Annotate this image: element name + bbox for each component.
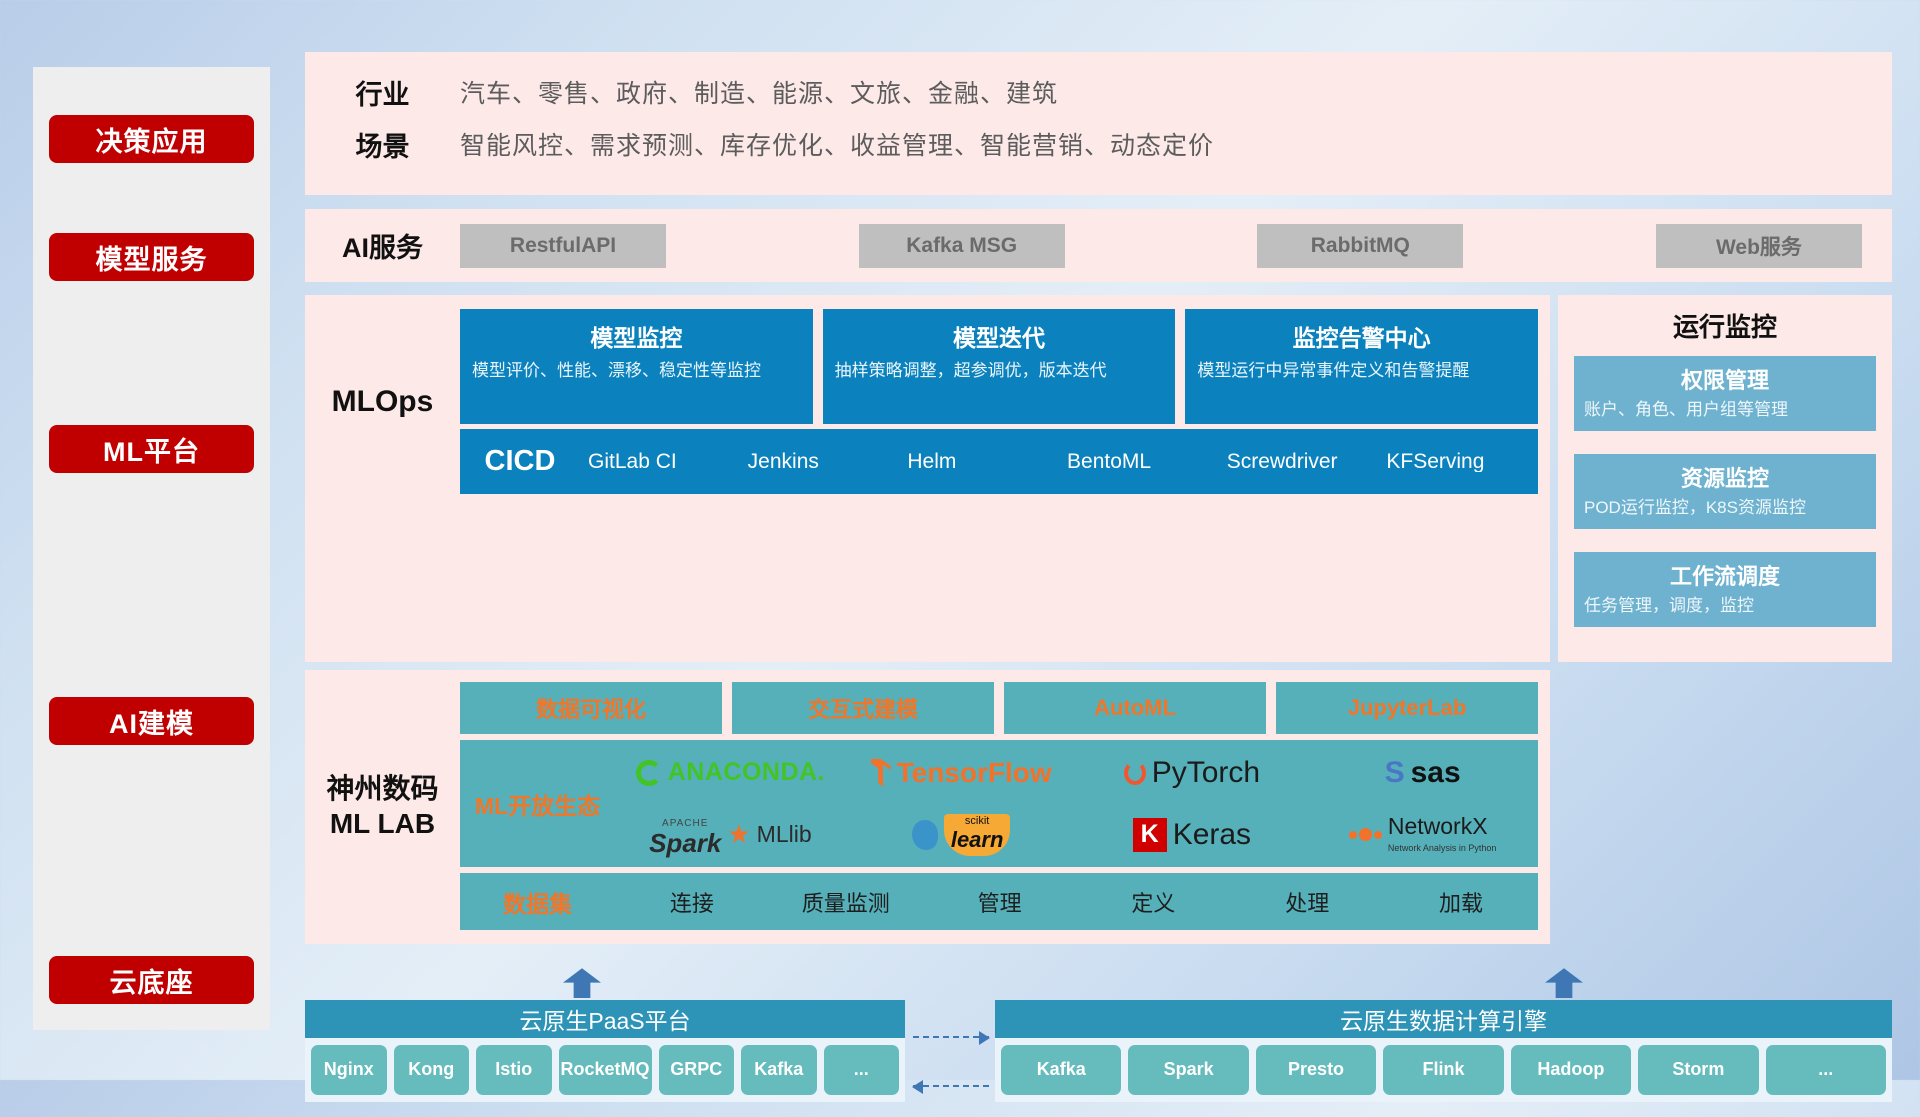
industry-value: 汽车、零售、政府、制造、能源、文旅、金融、建筑 — [460, 74, 1058, 110]
cicd-item-gitlab-ci[interactable]: GitLab CI — [580, 451, 740, 472]
card-title: 模型迭代 — [835, 319, 1164, 353]
dataset-items: 连接 质量监测 管理 定义 处理 加载 — [615, 886, 1538, 918]
tool-chip-automl[interactable]: AutoML — [1004, 682, 1266, 734]
pytorch-logo: PyTorch — [1077, 742, 1308, 804]
networkx-logo: NetworkX Network Analysis in Python — [1307, 804, 1538, 866]
mlops-panel: MLOps 模型监控 模型评价、性能、漂移、稳定性等监控 模型迭代 抽样策略调整… — [305, 295, 1550, 662]
stage-chip-ai-modeling[interactable]: AI建模 — [49, 697, 254, 745]
ai-service-buttons: RestfulAPI Kafka MSG RabbitMQ Web服务 — [460, 224, 1892, 268]
mlops-card-alert-center[interactable]: 监控告警中心 模型运行中异常事件定义和告警提醒 — [1185, 309, 1538, 424]
spark-star-icon: ★ — [727, 819, 750, 850]
mlops-card-model-iteration[interactable]: 模型迭代 抽样策略调整，超参调优，版本迭代 — [823, 309, 1176, 424]
dashed-arrow-right-icon — [913, 1036, 989, 1038]
eco-logo-grid: ANACONDA. TensorFlow PyTorch — [615, 742, 1538, 866]
card-desc: 模型评价、性能、漂移、稳定性等监控 — [472, 360, 801, 383]
ai-service-button-kafka-msg[interactable]: Kafka MSG — [859, 224, 1065, 268]
mlops-cards: 模型监控 模型评价、性能、漂移、稳定性等监控 模型迭代 抽样策略调整，超参调优，… — [460, 309, 1538, 424]
networkx-graph-icon — [1349, 828, 1382, 841]
card-title: 模型监控 — [472, 319, 801, 353]
scikit-sub-label: scikit — [951, 815, 1004, 827]
card-title: 资源监控 — [1584, 461, 1866, 493]
scenario-value: 智能风控、需求预测、库存优化、收益管理、智能营销、动态定价 — [460, 126, 1214, 162]
keras-label: Keras — [1173, 818, 1251, 852]
stage-chip-label: 决策应用 — [96, 120, 208, 159]
cicd-item-screwdriver[interactable]: Screwdriver — [1219, 451, 1379, 472]
ml-platform-band: MLOps 模型监控 模型评价、性能、漂移、稳定性等监控 模型迭代 抽样策略调整… — [305, 295, 1892, 662]
pytorch-label: PyTorch — [1152, 756, 1260, 790]
ai-service-button-web-service[interactable]: Web服务 — [1656, 224, 1862, 268]
dataset-label: 数据集 — [460, 885, 615, 919]
networkx-label: NetworkX — [1388, 813, 1488, 839]
tensorflow-label: TensorFlow — [897, 757, 1052, 789]
eco-label: ML开放生态 — [460, 787, 615, 821]
cloud-pill-hadoop[interactable]: Hadoop — [1511, 1045, 1631, 1095]
mlops-card-model-monitoring[interactable]: 模型监控 模型评价、性能、漂移、稳定性等监控 — [460, 309, 813, 424]
mllib-label: MLlib — [757, 821, 812, 848]
scikit-learn-logo: scikit learn — [846, 804, 1077, 866]
tool-chip-interactive-modeling[interactable]: 交互式建模 — [732, 682, 994, 734]
keras-logo: K Keras — [1077, 804, 1308, 866]
anaconda-ring-icon — [636, 760, 662, 786]
button-label: Kafka MSG — [906, 234, 1017, 258]
card-desc: 任务管理，调度，监控 — [1584, 595, 1866, 617]
stage-chip-label: 云底座 — [110, 961, 194, 1000]
tool-chips: 数据可视化 交互式建模 AutoML JupyterLab — [460, 682, 1538, 734]
scenario-label: 场景 — [305, 125, 460, 164]
dataset-item-connect[interactable]: 连接 — [615, 886, 769, 918]
cloud-pill-istio[interactable]: Istio — [476, 1045, 552, 1095]
cloud-pill-storm[interactable]: Storm — [1638, 1045, 1758, 1095]
card-desc: 模型运行中异常事件定义和告警提醒 — [1197, 360, 1526, 383]
anaconda-label: ANACONDA. — [668, 758, 825, 787]
ai-service-band: AI服务 RestfulAPI Kafka MSG RabbitMQ Web服务 — [305, 209, 1892, 282]
anaconda-logo: ANACONDA. — [615, 742, 846, 804]
ml-open-ecosystem: ML开放生态 ANACONDA. TensorFlow — [460, 740, 1538, 867]
button-label: RabbitMQ — [1311, 234, 1410, 258]
run-monitor-card-permission[interactable]: 权限管理 账户、角色、用户组等管理 — [1574, 356, 1876, 431]
cloud-pill-spark[interactable]: Spark — [1128, 1045, 1248, 1095]
cloud-pill-kong[interactable]: Kong — [394, 1045, 470, 1095]
sas-swoosh-icon: S — [1385, 756, 1405, 790]
keras-k-icon: K — [1133, 818, 1167, 852]
stage-chip-label: AI建模 — [109, 702, 194, 741]
sas-logo: S sas — [1307, 742, 1538, 804]
cloud-pill-presto[interactable]: Presto — [1256, 1045, 1376, 1095]
industry-row: 行业 汽车、零售、政府、制造、能源、文旅、金融、建筑 — [305, 66, 1892, 118]
cicd-items: GitLab CI Jenkins Helm BentoML Screwdriv… — [580, 451, 1538, 472]
cloud-base-band: 云原生PaaS平台 Nginx Kong Istio RocketMQ GRPC… — [305, 972, 1892, 1117]
ml-lab-label-line1: 神州数码 — [326, 773, 438, 804]
sas-label: sas — [1411, 756, 1461, 790]
cloud-pill-more[interactable]: ... — [824, 1045, 900, 1095]
cicd-item-jenkins[interactable]: Jenkins — [740, 451, 900, 472]
run-monitor-title: 运行监控 — [1574, 307, 1876, 344]
tensorflow-logo: TensorFlow — [846, 742, 1077, 804]
ai-service-button-restfulapi[interactable]: RestfulAPI — [460, 224, 666, 268]
dataset-item-process[interactable]: 处理 — [1230, 886, 1384, 918]
pytorch-flame-icon — [1124, 761, 1146, 785]
tensorflow-mark-icon — [871, 759, 891, 787]
card-title: 监控告警中心 — [1197, 319, 1526, 353]
spark-mllib-logo: APACHE Spark ★ MLlib — [615, 804, 846, 866]
scikit-label: learn — [951, 827, 1004, 852]
networkx-sub-label: Network Analysis in Python — [1388, 843, 1497, 853]
keras-mark-label: K — [1141, 820, 1159, 849]
scikit-blob-icon — [912, 820, 938, 850]
card-title: 工作流调度 — [1584, 559, 1866, 591]
ai-band-right-spacer — [1558, 670, 1892, 944]
button-label: Web服务 — [1716, 231, 1802, 261]
ai-service-button-rabbitmq[interactable]: RabbitMQ — [1257, 224, 1463, 268]
stage-chip-decision-app[interactable]: 决策应用 — [49, 115, 254, 163]
ai-service-label: AI服务 — [305, 226, 460, 265]
stage-chip-cloud-base[interactable]: 云底座 — [49, 956, 254, 1004]
cloud-pill-kafka[interactable]: Kafka — [741, 1045, 817, 1095]
stage-chip-label: ML平台 — [103, 430, 200, 469]
cloud-pill-flink[interactable]: Flink — [1383, 1045, 1503, 1095]
architecture-diagram: 行业 汽车、零售、政府、制造、能源、文旅、金融、建筑 场景 智能风控、需求预测、… — [305, 52, 1892, 1117]
stage-chip-ml-platform[interactable]: ML平台 — [49, 425, 254, 473]
ml-lab-panel: 神州数码 ML LAB 数据可视化 交互式建模 AutoML JupyterLa… — [305, 670, 1550, 944]
cicd-item-helm[interactable]: Helm — [899, 451, 1059, 472]
stage-chip-label: 模型服务 — [96, 238, 208, 277]
card-desc: POD运行监控，K8S资源监控 — [1584, 497, 1866, 519]
cloud-paas-column: 云原生PaaS平台 Nginx Kong Istio RocketMQ GRPC… — [305, 1000, 905, 1102]
stage-chip-model-service[interactable]: 模型服务 — [49, 233, 254, 281]
cloud-data-engine-title: 云原生数据计算引擎 — [995, 1000, 1892, 1038]
run-monitor-card-workflow[interactable]: 工作流调度 任务管理，调度，监控 — [1574, 552, 1876, 627]
cloud-data-engine-column: 云原生数据计算引擎 Kafka Spark Presto Flink Hadoo… — [995, 1000, 1892, 1102]
card-desc: 抽样策略调整，超参调优，版本迭代 — [835, 360, 1164, 383]
tool-chip-data-visualization[interactable]: 数据可视化 — [460, 682, 722, 734]
cloud-pill-rocketmq[interactable]: RocketMQ — [559, 1045, 652, 1095]
cloud-paas-title: 云原生PaaS平台 — [305, 1000, 905, 1038]
run-monitor-card-resource[interactable]: 资源监控 POD运行监控，K8S资源监控 — [1574, 454, 1876, 529]
cloud-pill-kafka-2[interactable]: Kafka — [1001, 1045, 1121, 1095]
dataset-item-manage[interactable]: 管理 — [923, 886, 1077, 918]
cicd-item-bentoml[interactable]: BentoML — [1059, 451, 1219, 472]
tool-chip-jupyterlab[interactable]: JupyterLab — [1276, 682, 1538, 734]
cloud-paas-pills: Nginx Kong Istio RocketMQ GRPC Kafka ... — [305, 1038, 905, 1102]
dataset-item-define[interactable]: 定义 — [1076, 886, 1230, 918]
up-arrow-icon-paas — [563, 968, 601, 998]
cicd-bar: CICD GitLab CI Jenkins Helm BentoML Scre… — [460, 429, 1538, 494]
card-desc: 账户、角色、用户组等管理 — [1584, 399, 1866, 421]
stage-rail: 决策应用 模型服务 ML平台 AI建模 云底座 — [33, 67, 270, 1030]
mlops-label: MLOps — [305, 309, 460, 494]
run-monitor-panel: 运行监控 权限管理 账户、角色、用户组等管理 资源监控 POD运行监控，K8S资… — [1558, 295, 1892, 662]
dataset-item-load[interactable]: 加载 — [1384, 886, 1538, 918]
ml-lab-label: 神州数码 ML LAB — [305, 682, 460, 930]
ml-lab-label-line2: ML LAB — [330, 808, 435, 839]
industry-label: 行业 — [305, 73, 460, 112]
cloud-pill-more-2[interactable]: ... — [1766, 1045, 1886, 1095]
cicd-item-kfserving[interactable]: KFServing — [1378, 451, 1538, 472]
button-label: RestfulAPI — [510, 234, 616, 258]
dataset-item-quality-monitor[interactable]: 质量监测 — [769, 886, 923, 918]
up-arrow-icon-data-engine — [1545, 968, 1583, 998]
cloud-pill-grpc[interactable]: GRPC — [659, 1045, 735, 1095]
scenario-row: 场景 智能风控、需求预测、库存优化、收益管理、智能营销、动态定价 — [305, 118, 1892, 170]
cloud-pill-nginx[interactable]: Nginx — [311, 1045, 387, 1095]
dashed-arrow-left-icon — [913, 1085, 989, 1087]
spark-label: Spark — [649, 828, 721, 858]
cloud-data-engine-pills: Kafka Spark Presto Flink Hadoop Storm ..… — [995, 1038, 1892, 1102]
cicd-title: CICD — [460, 445, 580, 478]
decision-app-band: 行业 汽车、零售、政府、制造、能源、文旅、金融、建筑 场景 智能风控、需求预测、… — [305, 52, 1892, 195]
ai-modeling-band: 神州数码 ML LAB 数据可视化 交互式建模 AutoML JupyterLa… — [305, 670, 1892, 944]
card-title: 权限管理 — [1584, 363, 1866, 395]
dataset-band: 数据集 连接 质量监测 管理 定义 处理 加载 — [460, 873, 1538, 930]
